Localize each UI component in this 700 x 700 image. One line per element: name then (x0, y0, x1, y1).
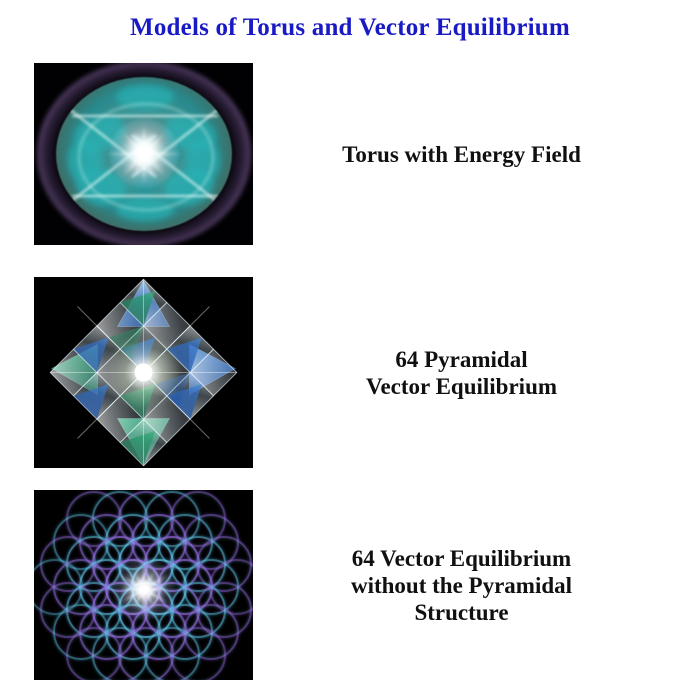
torus-scene (34, 63, 253, 245)
figure-64-pyramidal-vector-equilibrium[interactable] (34, 277, 253, 468)
model-label-pyramidal-ve: 64 Pyramidal Vector Equilibrium (253, 346, 700, 400)
figure-64-vector-equilibrium-rings[interactable] (34, 490, 253, 680)
ve64-scene (34, 277, 253, 468)
page-title: Models of Torus and Vector Equilibrium (0, 13, 700, 43)
model-label-line: Vector Equilibrium (269, 373, 654, 400)
torus-body (56, 77, 232, 231)
ring-core-glow (113, 558, 175, 620)
model-label-ve-no-pyramids: 64 Vector Equilibrium without the Pyrami… (253, 545, 700, 626)
model-row-pyramidal-ve: 64 Pyramidal Vector Equilibrium (0, 277, 700, 468)
model-label-line: 64 Vector Equilibrium (269, 545, 654, 572)
model-label-torus: Torus with Energy Field (253, 141, 700, 168)
flower-of-life-scene (34, 490, 253, 680)
model-label-line: Structure (269, 599, 654, 626)
slide-canvas: Models of Torus and Vector Equilibrium (0, 0, 700, 700)
model-row-torus: Torus with Energy Field (0, 63, 700, 245)
model-label-line: without the Pyramidal (269, 572, 654, 599)
torus-core-glow (109, 118, 179, 188)
model-row-ve-no-pyramids: 64 Vector Equilibrium without the Pyrami… (0, 490, 700, 680)
flower-of-life-ring (170, 627, 226, 680)
figure-torus-with-energy-field[interactable] (34, 63, 253, 245)
model-label-line: Torus with Energy Field (269, 141, 654, 168)
ve64-vector-drawing (34, 277, 253, 468)
model-label-line: 64 Pyramidal (269, 346, 654, 373)
